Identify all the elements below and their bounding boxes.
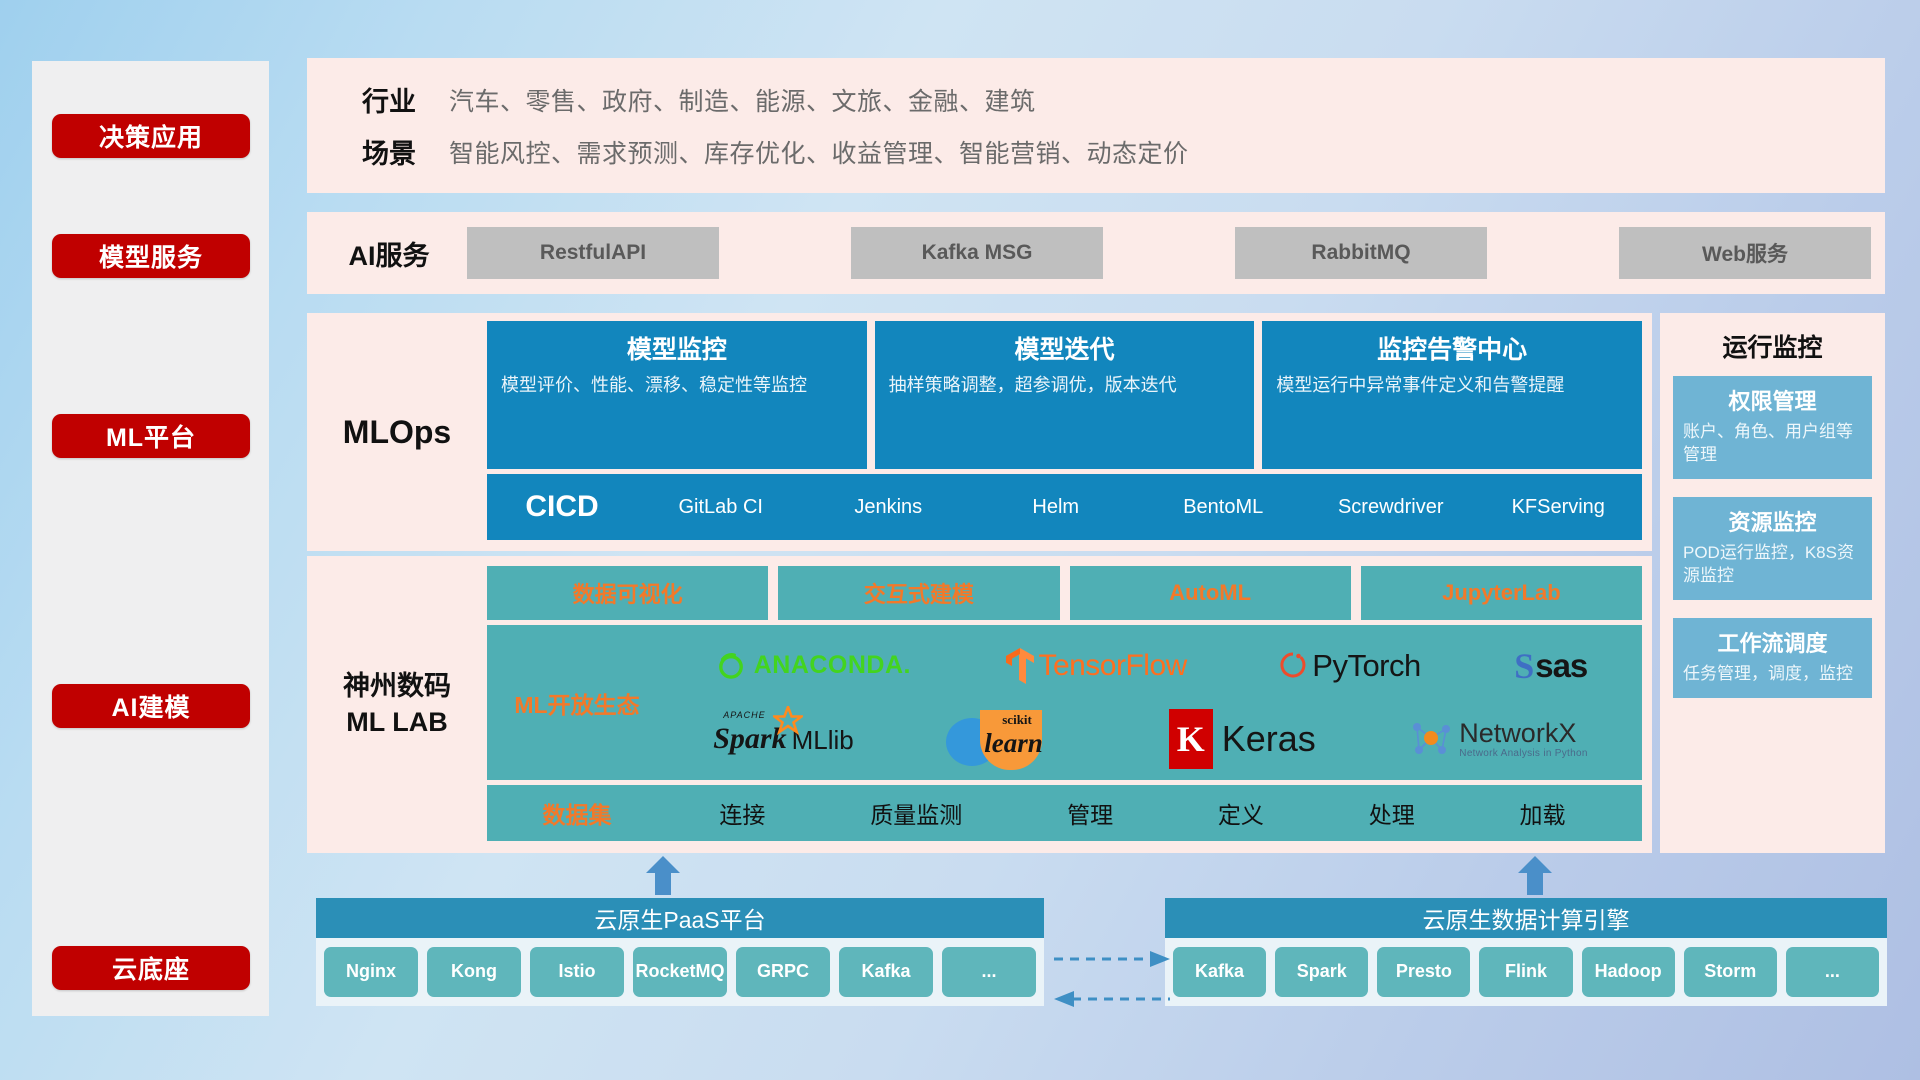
- runtime-monitor-panel: 运行监控 权限管理 账户、角色、用户组等管理 资源监控 POD运行监控，K8S资…: [1660, 313, 1885, 853]
- mlops-content: 模型监控 模型评价、性能、漂移、稳定性等监控 模型迭代 抽样策略调整，超参调优，…: [487, 313, 1652, 551]
- tensorflow-logo: TensorFlow: [1004, 646, 1186, 686]
- arrow-left-head-icon: [1054, 991, 1074, 1007]
- runtime-monitor-title: 运行监控: [1673, 328, 1872, 364]
- ml-lab-label: 神州数码 ML LAB: [307, 669, 487, 739]
- rail-chip-ai-modeling[interactable]: AI建模: [52, 684, 250, 728]
- rail-chip-ml-platform[interactable]: ML平台: [52, 414, 250, 458]
- dataset-item-quality[interactable]: 质量监测: [870, 796, 962, 830]
- learn-text: learn: [984, 728, 1043, 759]
- cloud-chip-flink[interactable]: Flink: [1479, 947, 1572, 997]
- ml-lab-content: 数据可视化 交互式建模 AutoML JupyterLab ML开放生态 ANA…: [487, 556, 1652, 853]
- service-box-web-service[interactable]: Web服务: [1619, 227, 1871, 279]
- cicd-item-jenkins[interactable]: Jenkins: [805, 496, 973, 519]
- cloud-chip-storm[interactable]: Storm: [1684, 947, 1777, 997]
- card-desc: 任务管理，调度，监控: [1683, 663, 1862, 686]
- spark-mllib-logo: APACHE Spark MLlib: [713, 722, 854, 756]
- industry-label: 行业: [329, 80, 449, 119]
- tool-box-automl[interactable]: AutoML: [1070, 566, 1351, 620]
- card-title: 模型迭代: [889, 330, 1241, 366]
- pytorch-logo: PyTorch: [1280, 648, 1420, 684]
- card-desc: 抽样策略调整，超参调优，版本迭代: [889, 374, 1241, 398]
- cloud-chip-kong[interactable]: Kong: [427, 947, 521, 997]
- rail-chip-decision-apps[interactable]: 决策应用: [52, 114, 250, 158]
- cloud-data-engine-chip-row: Kafka Spark Presto Flink Hadoop Storm ..…: [1165, 938, 1887, 1006]
- tool-box-jupyterlab[interactable]: JupyterLab: [1361, 566, 1642, 620]
- cloud-chip-kafka[interactable]: Kafka: [839, 947, 933, 997]
- ml-open-ecosystem-row: ML开放生态 ANACONDA.: [487, 625, 1642, 780]
- networkx-graph-icon: [1408, 716, 1454, 762]
- stack-layer-rail: 决策应用 模型服务 ML平台 AI建模 云底座: [32, 61, 269, 1016]
- monitor-card-resource[interactable]: 资源监控 POD运行监控，K8S资源监控: [1673, 497, 1872, 600]
- mlops-card-model-iteration[interactable]: 模型迭代 抽样策略调整，超参调优，版本迭代: [875, 321, 1255, 469]
- cloud-chip-kafka[interactable]: Kafka: [1173, 947, 1266, 997]
- service-box-kafka-msg[interactable]: Kafka MSG: [851, 227, 1103, 279]
- dataset-item-manage[interactable]: 管理: [1067, 796, 1113, 830]
- rail-chip-label: 云底座: [112, 950, 190, 986]
- card-desc: POD运行监控，K8S资源监控: [1683, 542, 1862, 588]
- sas-logo: S sas: [1514, 645, 1587, 687]
- card-desc: 账户、角色、用户组等管理: [1683, 421, 1862, 467]
- apache-label: APACHE: [723, 710, 765, 720]
- arrow-right-head-icon: [1150, 951, 1170, 967]
- card-title: 权限管理: [1683, 384, 1862, 416]
- industry-row: 行业 汽车、零售、政府、制造、能源、文旅、金融、建筑: [329, 74, 1885, 126]
- cloud-chip-nginx[interactable]: Nginx: [324, 947, 418, 997]
- ml-lab-label-line2: ML LAB: [307, 705, 487, 740]
- keras-wordmark: Keras: [1222, 718, 1316, 760]
- rail-chip-label: ML平台: [106, 418, 196, 454]
- dataset-item-load[interactable]: 加载: [1520, 796, 1566, 830]
- service-box-restfulapi[interactable]: RestfulAPI: [467, 227, 719, 279]
- card-title: 工作流调度: [1683, 626, 1862, 658]
- rail-chip-label: 模型服务: [99, 238, 203, 274]
- scikit-text: scikit: [1002, 712, 1032, 728]
- sas-mark: S: [1514, 645, 1534, 687]
- tool-box-data-visualization[interactable]: 数据可视化: [487, 566, 768, 620]
- card-title: 资源监控: [1683, 505, 1862, 537]
- mlops-card-row: 模型监控 模型评价、性能、漂移、稳定性等监控 模型迭代 抽样策略调整，超参调优，…: [487, 321, 1642, 469]
- tensorflow-icon: [1004, 646, 1036, 686]
- anaconda-icon: [714, 649, 748, 683]
- scenario-row: 场景 智能风控、需求预测、库存优化、收益管理、智能营销、动态定价: [329, 126, 1885, 178]
- ecosystem-logo-row-2: APACHE Spark MLlib scikit learn: [667, 703, 1634, 777]
- card-desc: 模型评价、性能、漂移、稳定性等监控: [501, 374, 853, 398]
- keras-mark-icon: K: [1169, 709, 1213, 769]
- cloud-chip-more[interactable]: ...: [1786, 947, 1879, 997]
- ml-lab-panel: 神州数码 ML LAB 数据可视化 交互式建模 AutoML JupyterLa…: [307, 556, 1652, 853]
- mlops-card-alert-center[interactable]: 监控告警中心 模型运行中异常事件定义和告警提醒: [1262, 321, 1642, 469]
- cicd-item-kfserving[interactable]: KFServing: [1475, 496, 1643, 519]
- anaconda-logo: ANACONDA.: [714, 649, 911, 683]
- cloud-paas-title: 云原生PaaS平台: [316, 898, 1044, 938]
- card-title: 模型监控: [501, 330, 853, 366]
- ai-service-label: AI服务: [329, 234, 449, 273]
- networkx-tagline: Network Analysis in Python: [1459, 749, 1587, 759]
- tensorflow-wordmark: TensorFlow: [1038, 649, 1186, 683]
- keras-logo: K Keras: [1169, 709, 1316, 769]
- monitor-card-workflow[interactable]: 工作流调度 任务管理，调度，监控: [1673, 618, 1872, 698]
- monitor-card-permission[interactable]: 权限管理 账户、角色、用户组等管理: [1673, 376, 1872, 479]
- ecosystem-logo-grid: ANACONDA. TensorFlow: [667, 625, 1642, 780]
- cicd-item-helm[interactable]: Helm: [972, 496, 1140, 519]
- dataset-item-connect[interactable]: 连接: [719, 796, 765, 830]
- card-title: 监控告警中心: [1276, 330, 1628, 366]
- cicd-item-screwdriver[interactable]: Screwdriver: [1307, 496, 1475, 519]
- cloud-chip-grpc[interactable]: GRPC: [736, 947, 830, 997]
- cloud-chip-more[interactable]: ...: [942, 947, 1036, 997]
- cloud-paas-chip-row: Nginx Kong Istio RocketMQ GRPC Kafka ...: [316, 938, 1044, 1006]
- cloud-paas-group: 云原生PaaS平台 Nginx Kong Istio RocketMQ GRPC…: [316, 898, 1044, 1006]
- anaconda-wordmark: ANACONDA.: [754, 651, 911, 680]
- networkx-logo: NetworkX Network Analysis in Python: [1408, 716, 1587, 762]
- rail-chip-cloud-base[interactable]: 云底座: [52, 946, 250, 990]
- networkx-wordmark: NetworkX: [1459, 720, 1587, 747]
- dataset-label: 数据集: [487, 796, 667, 830]
- cloud-chip-rocketmq[interactable]: RocketMQ: [633, 947, 727, 997]
- scenario-label: 场景: [329, 132, 449, 171]
- mlops-card-model-monitoring[interactable]: 模型监控 模型评价、性能、漂移、稳定性等监控: [487, 321, 867, 469]
- pytorch-icon: [1280, 649, 1306, 683]
- cicd-label: CICD: [487, 490, 637, 524]
- industry-values: 汽车、零售、政府、制造、能源、文旅、金融、建筑: [449, 82, 1036, 118]
- cloud-chip-presto[interactable]: Presto: [1377, 947, 1470, 997]
- cloud-chip-istio[interactable]: Istio: [530, 947, 624, 997]
- ml-lab-label-line1: 神州数码: [307, 669, 487, 704]
- cicd-item-gitlab-ci[interactable]: GitLab CI: [637, 496, 805, 519]
- cloud-chip-hadoop[interactable]: Hadoop: [1582, 947, 1675, 997]
- up-arrow-paas-icon: [643, 855, 683, 895]
- mlops-label: MLOps: [307, 414, 487, 451]
- cloud-data-engine-group: 云原生数据计算引擎 Kafka Spark Presto Flink Hadoo…: [1165, 898, 1887, 1006]
- dataset-item-process[interactable]: 处理: [1369, 796, 1415, 830]
- cloud-chip-spark[interactable]: Spark: [1275, 947, 1368, 997]
- rail-chip-label: AI建模: [111, 688, 190, 724]
- dataset-row: 数据集 连接 质量监测 管理 定义 处理 加载: [487, 785, 1642, 841]
- up-arrow-data-engine-icon: [1515, 855, 1555, 895]
- spark-star-icon: [773, 706, 803, 736]
- cicd-bar: CICD GitLab CI Jenkins Helm BentoML Scre…: [487, 474, 1642, 540]
- rail-chip-model-service[interactable]: 模型服务: [52, 234, 250, 278]
- sas-wordmark: sas: [1535, 647, 1587, 685]
- card-desc: 模型运行中异常事件定义和告警提醒: [1276, 374, 1628, 398]
- dataset-item-define[interactable]: 定义: [1218, 796, 1264, 830]
- ml-lab-tool-row: 数据可视化 交互式建模 AutoML JupyterLab: [487, 566, 1642, 620]
- scenario-values: 智能风控、需求预测、库存优化、收益管理、智能营销、动态定价: [449, 134, 1189, 170]
- scikit-learn-logo: scikit learn: [946, 706, 1076, 772]
- tool-box-interactive-modeling[interactable]: 交互式建模: [778, 566, 1059, 620]
- mlops-panel: MLOps 模型监控 模型评价、性能、漂移、稳定性等监控 模型迭代 抽样策略调整…: [307, 313, 1652, 551]
- cloud-data-engine-title: 云原生数据计算引擎: [1165, 898, 1887, 938]
- ai-service-box-strip: RestfulAPI Kafka MSG RabbitMQ Web服务: [449, 227, 1885, 279]
- bidirectional-dashed-arrows: [1052, 945, 1172, 1013]
- ecosystem-logo-row-1: ANACONDA. TensorFlow: [667, 629, 1634, 703]
- dataset-item-list: 连接 质量监测 管理 定义 处理 加载: [667, 796, 1642, 830]
- decision-apps-panel: 行业 汽车、零售、政府、制造、能源、文旅、金融、建筑 场景 智能风控、需求预测、…: [307, 58, 1885, 193]
- pytorch-wordmark: PyTorch: [1312, 648, 1420, 684]
- cicd-item-bentoml[interactable]: BentoML: [1140, 496, 1308, 519]
- ai-service-panel: AI服务 RestfulAPI Kafka MSG RabbitMQ Web服务: [307, 212, 1885, 294]
- service-box-rabbitmq[interactable]: RabbitMQ: [1235, 227, 1487, 279]
- rail-chip-label: 决策应用: [99, 118, 203, 154]
- ml-open-ecosystem-label: ML开放生态: [487, 686, 667, 720]
